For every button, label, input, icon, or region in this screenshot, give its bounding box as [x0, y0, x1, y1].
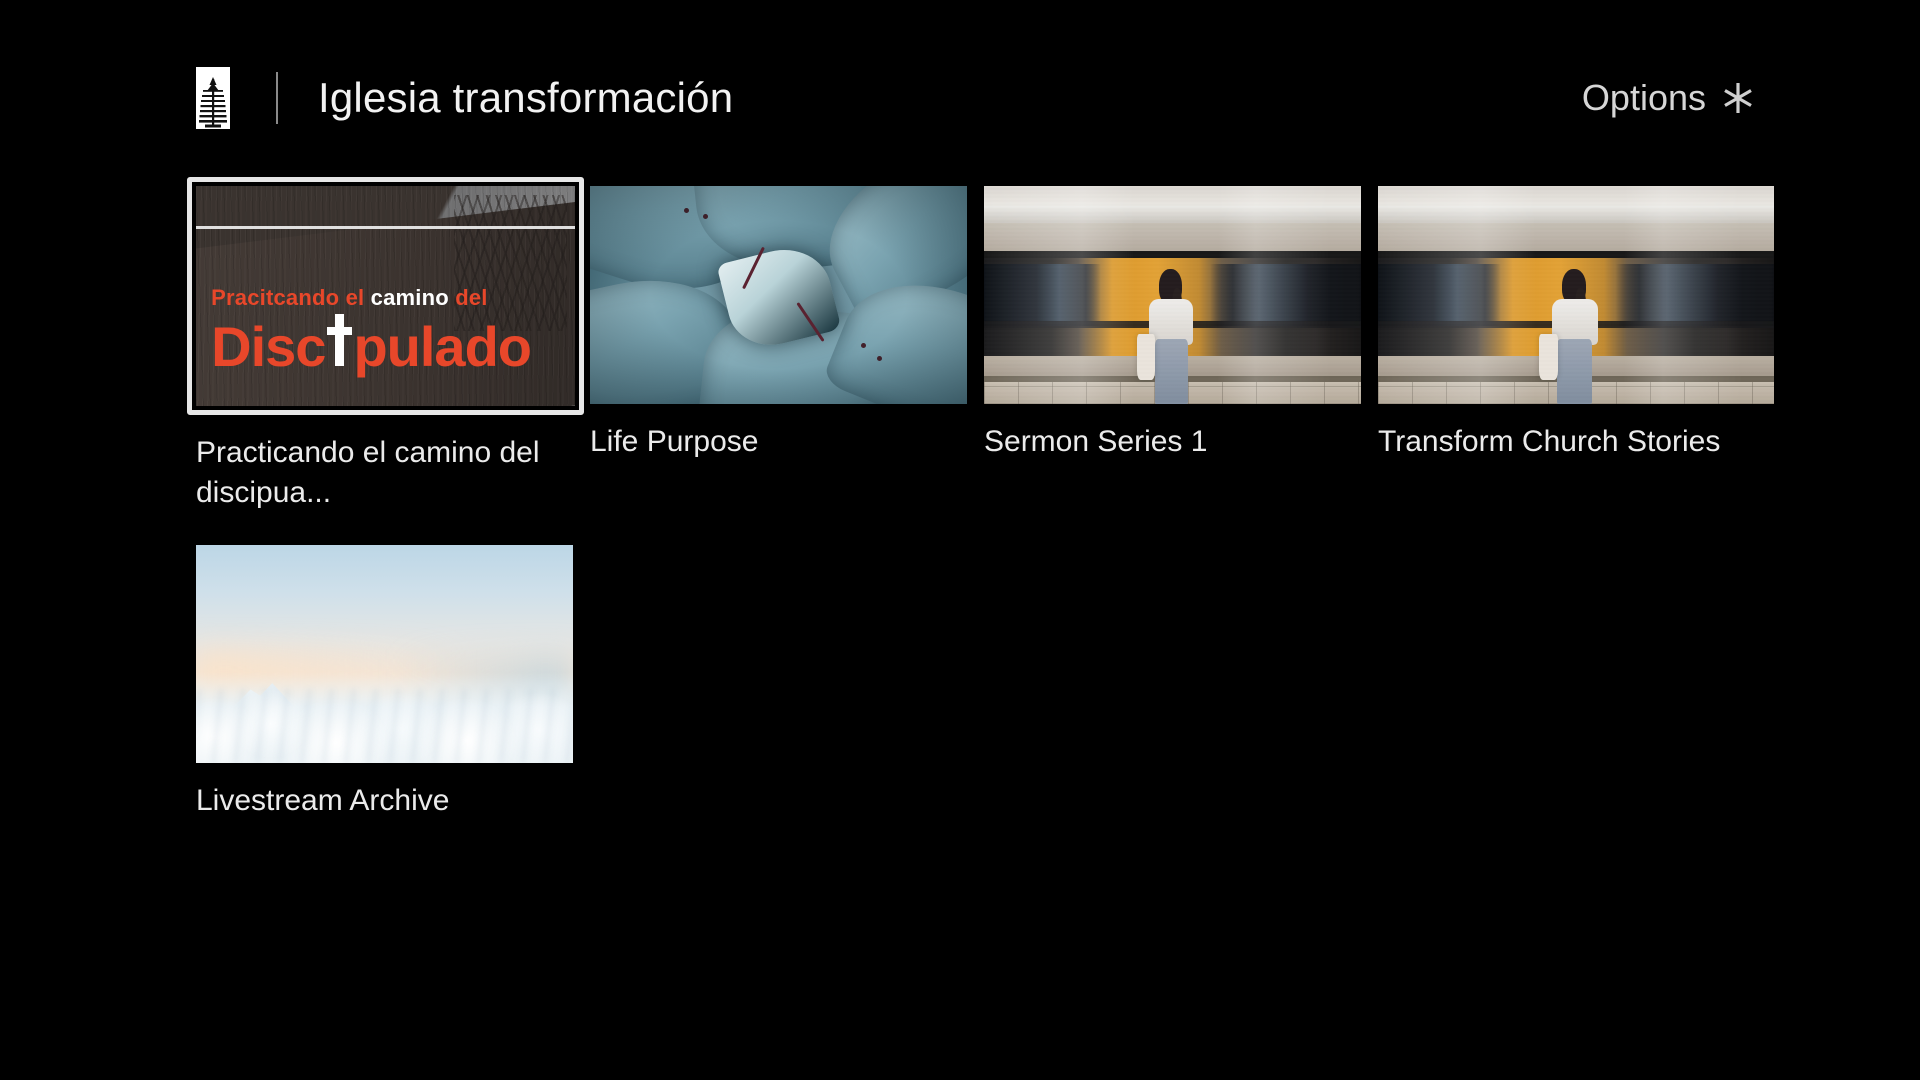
grid-item-label: Sermon Series 1: [984, 422, 1362, 462]
poster-rule: [196, 226, 575, 229]
app-header: Iglesia transformación Options: [196, 66, 1756, 130]
thumbnail-sermon-series-1[interactable]: [984, 186, 1361, 404]
grid-item-practicando[interactable]: Pracitcando el camino del Disc pulado: [196, 186, 590, 513]
grid-item-livestream-archive[interactable]: Livestream Archive: [196, 545, 590, 821]
grid-item-label: Life Purpose: [590, 422, 968, 462]
grid-row: Livestream Archive: [196, 545, 1920, 821]
train-platform-art: [1378, 186, 1774, 404]
grid-item-transform-church-stories[interactable]: Transform Church Stories: [1378, 186, 1772, 513]
poster-line2-post: pulado: [353, 319, 531, 375]
grid-row: Pracitcando el camino del Disc pulado: [196, 186, 1920, 513]
options-label: Options: [1582, 77, 1706, 119]
thumbnail-practicando[interactable]: Pracitcando el camino del Disc pulado: [196, 186, 575, 406]
thumbnail-transform-church-stories[interactable]: [1378, 186, 1774, 404]
discipulado-poster-art: Pracitcando el camino del Disc pulado: [196, 186, 575, 406]
poster-line1-a: Pracitcando el: [211, 285, 371, 310]
cross-icon: [326, 314, 352, 366]
options-button[interactable]: Options: [1582, 77, 1756, 119]
page-title: Iglesia transformación: [318, 77, 733, 119]
poster-line1-c: del: [455, 285, 487, 310]
grid-item-label: Livestream Archive: [196, 781, 574, 821]
clouds-sky-art: [196, 545, 573, 763]
grid-item-life-purpose[interactable]: Life Purpose: [590, 186, 984, 513]
thumbnail-life-purpose[interactable]: [590, 186, 967, 404]
thumbnail-livestream-archive[interactable]: [196, 545, 573, 763]
poster-line-2: Disc pulado: [211, 314, 567, 375]
train-platform-art: [984, 186, 1361, 404]
pine-tree-logo-icon: [196, 67, 230, 129]
selection-frame: Pracitcando el camino del Disc pulado: [187, 177, 584, 415]
asterisk-icon: [1720, 80, 1756, 116]
tv-channel-screen: Iglesia transformación Options: [0, 0, 1920, 1080]
agave-succulent-art: [590, 186, 967, 404]
poster-line-1: Pracitcando el camino del: [211, 287, 567, 309]
poster-line2-pre: Disc: [211, 319, 325, 375]
brand-block: Iglesia transformación: [196, 67, 733, 129]
poster-line1-b: camino: [371, 285, 456, 310]
content-grid: Pracitcando el camino del Disc pulado: [196, 186, 1920, 822]
grid-item-label: Transform Church Stories: [1378, 422, 1756, 462]
grid-item-sermon-series-1[interactable]: Sermon Series 1: [984, 186, 1378, 513]
grid-item-label: Practicando el camino del discipua...: [196, 433, 574, 513]
header-divider: [276, 72, 278, 124]
